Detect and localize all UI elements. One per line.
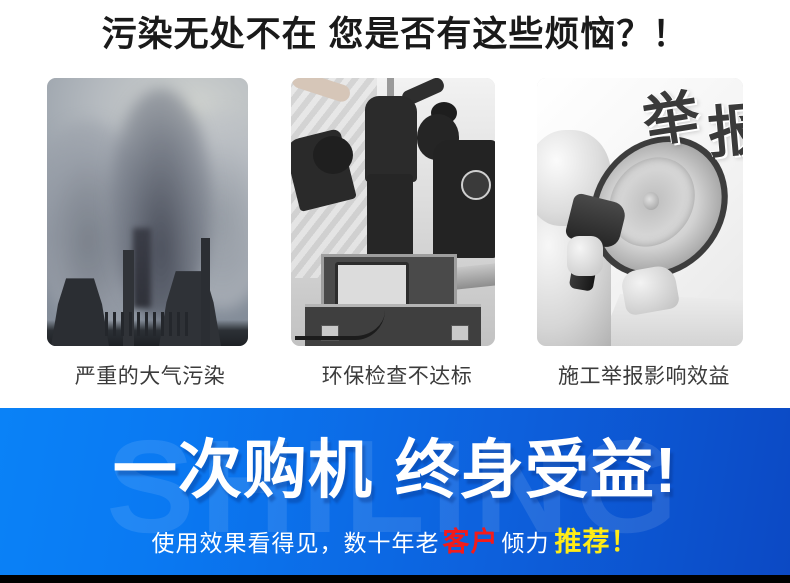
smoke-column — [133, 228, 151, 308]
banner-sub-yellow-highlight: 推荐！ — [555, 527, 639, 557]
promo-banner-page: 污染无处不在 您是否有这些烦恼？！ — [0, 0, 790, 583]
figure-hand — [567, 236, 603, 276]
inspector-left-head — [313, 136, 353, 174]
banner-headline-part1: 一次购机 — [113, 434, 373, 506]
caption-megaphone-report: 施工举报影响效益 — [541, 360, 747, 390]
photo-gallery: 举报 — [47, 78, 743, 346]
inspector-right-body — [433, 140, 495, 258]
banner-sub-middle: 倾力 — [502, 530, 550, 556]
air-pollution-photo — [47, 78, 248, 346]
banner-headline: 一次购机终身受益! — [0, 430, 790, 510]
environmental-inspection-photo — [291, 78, 495, 346]
page-title: 污染无处不在 您是否有这些烦恼？！ — [0, 12, 790, 58]
case-latch-icon — [451, 325, 469, 341]
report-char-2: 报 — [706, 102, 743, 161]
caption-environmental-inspection: 环保检查不达标 — [294, 360, 500, 390]
megaphone-report-photo: 举报 — [537, 78, 743, 346]
bottom-divider — [0, 575, 790, 583]
banner-subheadline: 使用效果看得见，数十年老客户倾力推荐！ — [0, 526, 790, 559]
plant-structure — [105, 312, 191, 336]
smokestack-icon — [201, 238, 210, 346]
worker-torso — [365, 96, 417, 182]
report-overlay-text: 举报 — [639, 80, 743, 151]
megaphone-driver — [643, 192, 659, 210]
caption-air-pollution: 严重的大气污染 — [47, 360, 253, 390]
measurement-device-screen — [335, 262, 409, 308]
uniform-badge-icon — [461, 170, 491, 200]
report-char-1: 举 — [639, 84, 702, 155]
banner-headline-part2: 终身受益! — [395, 434, 677, 506]
promo-banner: SHILING 一次购机终身受益! 使用效果看得见，数十年老客户倾力推荐！ — [0, 408, 790, 575]
figure-hand — [620, 264, 681, 317]
photo-captions: 严重的大气污染 环保检查不达标 施工举报影响效益 — [47, 360, 747, 390]
banner-sub-red-highlight: 客户 — [443, 527, 499, 557]
banner-sub-prefix: 使用效果看得见，数十年老 — [152, 530, 440, 556]
